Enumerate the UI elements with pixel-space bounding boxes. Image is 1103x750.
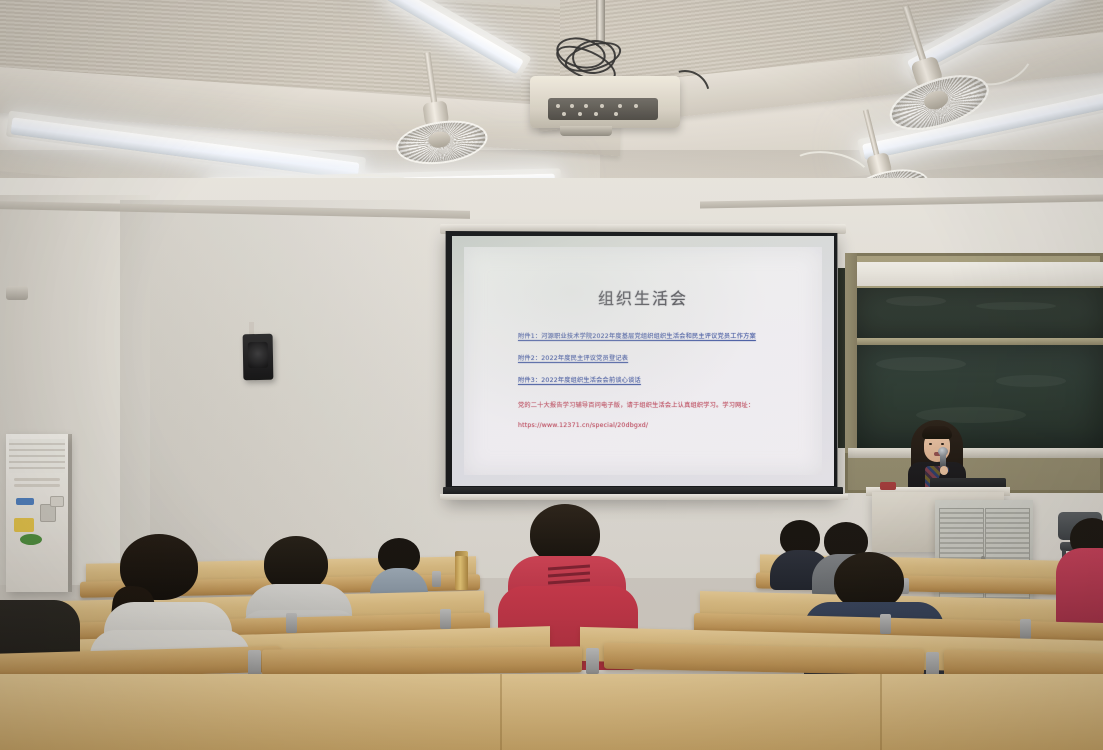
wall-shadow <box>120 200 460 570</box>
chalk-ledge <box>848 448 1103 458</box>
presenter-hand <box>940 466 948 475</box>
bench-backrest <box>604 643 924 676</box>
desk-seam <box>880 674 882 750</box>
screen-bottom-lip <box>440 494 848 500</box>
blackboard-divider-rail <box>856 338 1103 345</box>
blackboard-left-frame <box>845 253 857 453</box>
wall-speaker <box>243 334 274 381</box>
slide-title: 组织生活会 <box>464 285 822 309</box>
red-item-on-podium <box>880 482 896 490</box>
slide-link-1: 附件1：河源职业技术学院2022年度基层党组织组织生活会和民主评议党员工作方案 <box>518 331 756 340</box>
presenter-fringe <box>922 426 952 439</box>
blackboard-upper-panel <box>856 288 1103 338</box>
speaker-cone-icon <box>248 342 268 368</box>
desk-seam <box>500 674 502 750</box>
ac-brand-label <box>16 498 34 505</box>
projector-control-panel <box>548 98 658 120</box>
air-conditioner-unit <box>6 434 68 592</box>
ac-green-sticker <box>20 534 42 545</box>
ac-sticker <box>50 496 64 507</box>
classroom-photo: 组织生活会 附件1：河源职业技术学院2022年度基层党组织组织生活会和民主评议党… <box>0 0 1103 750</box>
slide-link-3: 附件3：2022年度组织生活会会前谈心谈话 <box>518 375 641 384</box>
blackboard <box>856 345 1103 448</box>
slide-link-2: 附件2：2022年度民主评议党员登记表 <box>518 353 628 362</box>
ac-grille <box>9 439 65 473</box>
projected-slide: 组织生活会 附件1：河源职业技术学院2022年度基层党组织组织生活会和民主评议党… <box>464 247 822 475</box>
projector-lens <box>560 126 612 136</box>
projector-cables <box>552 36 636 80</box>
slide-url: https://www.12371.cn/special/20dbgxd/ <box>518 422 648 429</box>
ac-yellow-sticker <box>14 518 34 532</box>
slide-notice: 党的二十大报告学习辅导百问电子版，请于组织生活会上认真组织学习。学习网址： <box>518 400 754 409</box>
microphone-head-icon <box>938 447 948 456</box>
blackboard-upper-white-strip <box>856 262 1103 286</box>
smoke-detector-icon <box>6 286 28 300</box>
thermos-bottle <box>455 556 468 590</box>
bench-backrest <box>262 646 582 675</box>
